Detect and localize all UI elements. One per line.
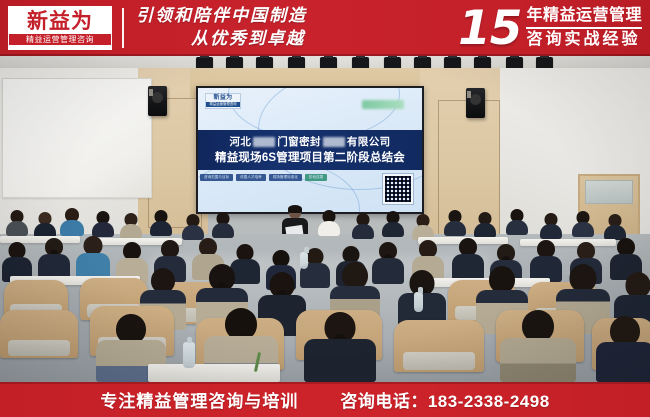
attendee	[318, 210, 340, 236]
slide-chip: 改善人才培养	[236, 174, 266, 181]
attendee-torso	[540, 224, 562, 239]
attendee	[596, 316, 650, 382]
attendee-torso	[444, 221, 466, 236]
attendee-torso	[352, 224, 374, 239]
slide-title-part-c: 有限公司	[347, 135, 391, 149]
attendee-torso	[318, 221, 340, 236]
attendee	[474, 212, 496, 238]
attendee-head	[342, 262, 368, 289]
attendee-torso	[212, 223, 234, 238]
attendee	[604, 214, 626, 240]
attendee	[34, 212, 56, 238]
redaction-box	[253, 137, 275, 147]
footer-phone[interactable]: 咨询电话：183-2338-2498	[340, 387, 549, 412]
chair	[0, 310, 78, 358]
attendee	[120, 213, 142, 239]
attendee-head	[570, 264, 597, 292]
slide-chip: 现场管理标准化	[269, 174, 302, 181]
chair	[394, 320, 484, 372]
attendee	[150, 210, 172, 236]
attendee	[76, 236, 110, 280]
event-photo: 新益为 精益运营管理咨询 河北 门窗密封 有限公司 精益现场6S管理项目第二阶段…	[0, 56, 650, 382]
speaker-icon	[148, 86, 167, 116]
slide-title-band: 河北 门窗密封 有限公司 精益现场6S管理项目第二阶段总结会	[198, 130, 422, 170]
attendee-head	[489, 266, 515, 293]
attendee	[382, 211, 404, 237]
water-bottle	[300, 252, 308, 269]
attendee	[500, 310, 576, 382]
conference-table	[148, 364, 280, 382]
slogan-line-2: 从优秀到卓越	[136, 28, 307, 51]
attendee	[60, 208, 84, 236]
attendee	[444, 210, 466, 236]
attendee-torso	[150, 221, 172, 236]
attendee	[182, 214, 204, 240]
attendee-torso	[60, 220, 84, 236]
attendee	[540, 213, 562, 239]
experience-line-1: 年精益运营管理	[526, 6, 642, 26]
company-logo: 新益为 精益运营管理咨询	[8, 6, 112, 50]
door-glass-panel	[585, 180, 633, 204]
experience-text: 年精益运营管理 咨询实战经验	[526, 6, 642, 50]
experience-number: 15	[458, 5, 521, 52]
water-bottle	[183, 342, 195, 368]
logo-main-text: 新益为	[27, 11, 93, 32]
attendee	[572, 211, 594, 237]
water-bottle	[414, 292, 423, 312]
attendee	[38, 238, 70, 280]
experience-block: 15 年精益运营管理 咨询实战经验	[458, 5, 642, 52]
slide-title-line-1: 河北 门窗密封 有限公司	[229, 135, 390, 149]
experience-line-2: 咨询实战经验	[526, 30, 642, 50]
attendee-torso	[304, 339, 376, 382]
header-slogan: 引领和陪伴中国制造 从优秀到卓越	[136, 5, 307, 51]
projection-screen: 新益为 精益运营管理咨询 河北 门窗密封 有限公司 精益现场6S管理项目第二阶段…	[196, 86, 424, 214]
speaker-icon	[466, 88, 485, 118]
footer-tagline: 专注精益管理咨询与培训	[100, 387, 298, 412]
attendee-torso	[596, 342, 650, 382]
attendee-torso	[120, 224, 142, 239]
attendee	[352, 213, 374, 239]
slide-green-accent	[362, 100, 404, 109]
qr-code-icon	[383, 174, 413, 204]
attendee-torso	[6, 221, 28, 236]
banner-footer: 专注精益管理咨询与培训 咨询电话：183-2338-2498	[0, 382, 650, 417]
slide-title-line-2: 精益现场6S管理项目第二阶段总结会	[215, 150, 405, 166]
attendee	[212, 212, 234, 238]
speaker-bracket	[149, 89, 153, 96]
logo-sub-text: 精益运营管理咨询	[9, 34, 111, 45]
attendee-torso	[500, 338, 576, 382]
slide-chip: 咨询范围与目标	[200, 174, 233, 181]
slide-title-part-b: 门窗密封	[277, 135, 321, 149]
promo-banner: 新益为 精益运营管理咨询 引领和陪伴中国制造 从优秀到卓越 15 年精益运营管理…	[0, 0, 650, 417]
slide-nav-chips: 咨询范围与目标 改善人才培养 现场管理标准化 阶段成果	[200, 174, 327, 181]
banner-header: 新益为 精益运营管理咨询 引领和陪伴中国制造 从优秀到卓越 15 年精益运营管理…	[0, 0, 650, 56]
attendee-torso	[572, 222, 594, 237]
audience	[0, 206, 650, 382]
attendee-torso	[382, 222, 404, 237]
slide-chip: 阶段成果	[305, 174, 327, 181]
slogan-line-1: 引领和陪伴中国制造	[136, 5, 307, 28]
attendee-torso	[92, 222, 114, 237]
attendee	[6, 210, 28, 236]
slide-logo-sub: 精益运营管理咨询	[206, 102, 240, 106]
attendee	[304, 312, 376, 382]
slide-title-part-a: 河北	[229, 135, 251, 149]
speaker-bracket	[467, 91, 471, 98]
header-divider	[122, 8, 124, 48]
attendee	[92, 211, 114, 237]
whiteboard	[2, 78, 152, 198]
attendee-torso	[506, 220, 528, 235]
slide-logo: 新益为 精益运营管理咨询	[205, 93, 241, 109]
redaction-box	[323, 137, 345, 147]
attendee	[506, 209, 528, 235]
slide-logo-main: 新益为	[214, 95, 233, 101]
attendee-torso	[474, 223, 496, 238]
experience-rule	[526, 27, 642, 29]
